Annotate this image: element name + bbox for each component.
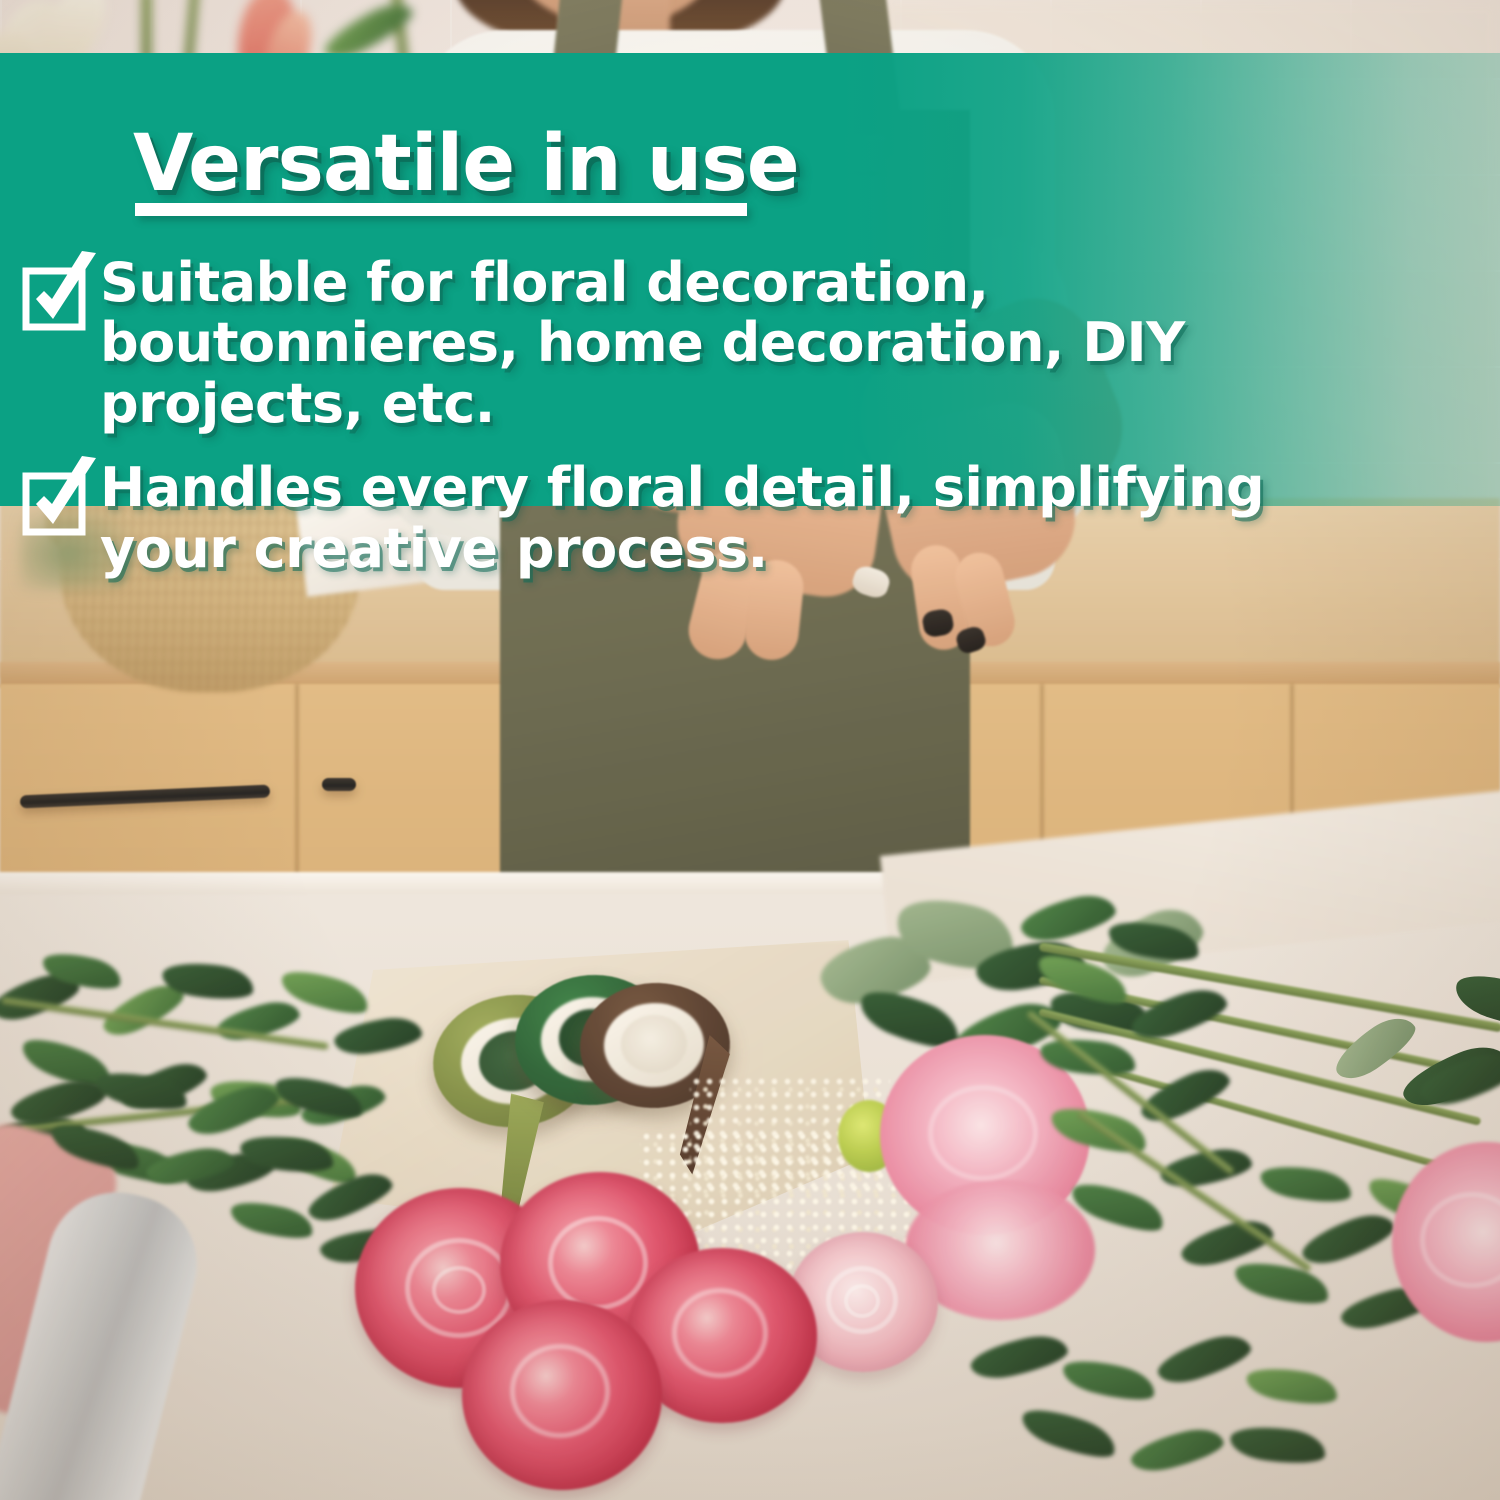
feature-list: Suitable for floral decoration, boutonni… (22, 249, 1352, 599)
list-item-label: Suitable for floral decoration, boutonni… (100, 249, 1352, 434)
page-title: Versatile in use (133, 125, 799, 203)
list-item-label: Handles every floral detail, simplifying… (100, 454, 1352, 579)
list-item: Handles every floral detail, simplifying… (22, 454, 1352, 579)
banner-title-wrap: Versatile in use (133, 125, 799, 203)
checkbox-checked-icon (22, 249, 100, 335)
list-item: Suitable for floral decoration, boutonni… (22, 249, 1352, 434)
product-infographic: Versatile in use Suitable for floral dec… (0, 0, 1500, 1500)
feature-banner: Versatile in use Suitable for floral dec… (0, 53, 1500, 506)
title-underline (135, 203, 747, 216)
checkbox-checked-icon (22, 454, 100, 540)
